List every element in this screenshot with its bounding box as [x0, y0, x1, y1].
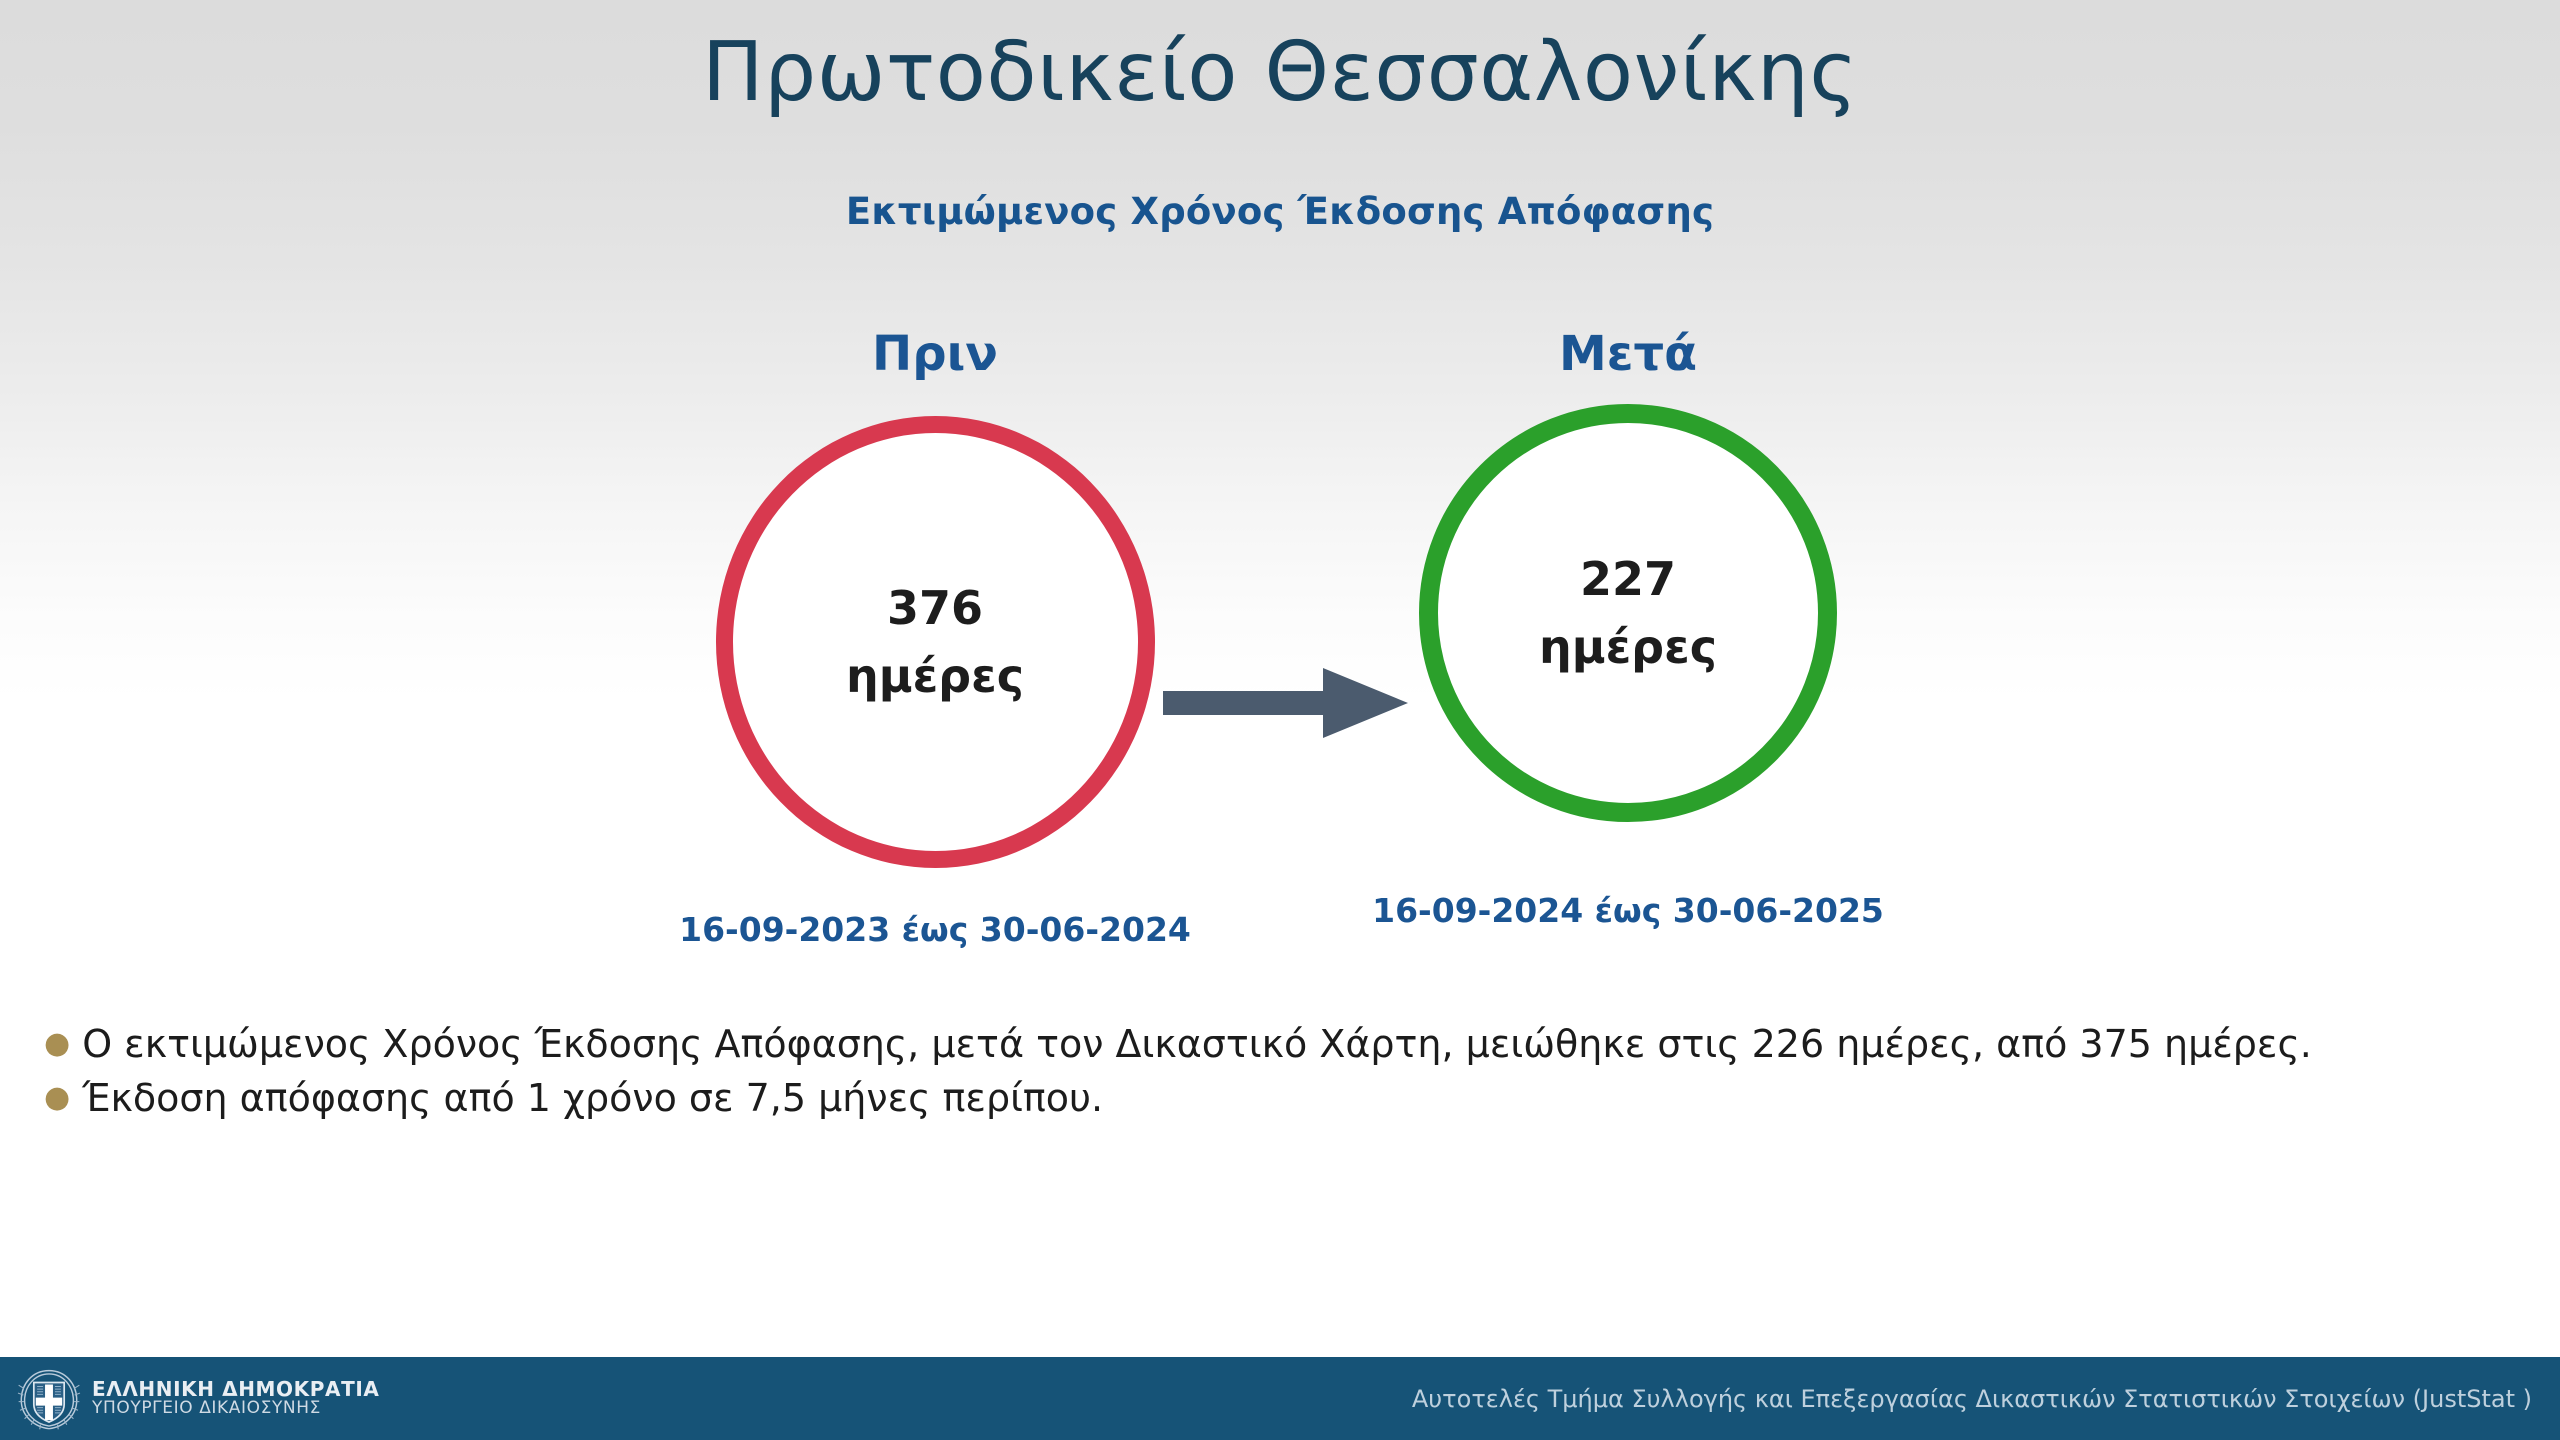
bullet-dot-icon: ●: [44, 1072, 70, 1124]
list-item: ● Ο εκτιμώμενος Χρόνος Έκδοσης Απόφασης,…: [44, 1018, 2500, 1072]
greek-coat-of-arms-icon: [16, 1366, 82, 1432]
after-date-range: 16-09-2024 έως 30-06-2025: [1368, 894, 1888, 927]
after-value: 227: [1580, 556, 1676, 602]
comparison-section: Πριν 376 ημέρες 16-09-2023 έως 30-06-202…: [0, 330, 2560, 950]
page-title: Πρωτοδικείο Θεσσαλονίκης: [0, 30, 2560, 117]
before-date-range: 16-09-2023 έως 30-06-2024: [675, 913, 1195, 946]
before-unit: ημέρες: [846, 653, 1024, 699]
list-item: ● Έκδοση απόφασης από 1 χρόνο σε 7,5 μήν…: [44, 1072, 2500, 1126]
after-unit: ημέρες: [1539, 624, 1717, 670]
footer-brand-line1: ΕΛΛΗΝΙΚΗ ΔΗΜΟΚΡΑΤΙΑ: [92, 1379, 379, 1400]
footer-bar: ΕΛΛΗΝΙΚΗ ΔΗΜΟΚΡΑΤΙΑ ΥΠΟΥΡΓΕΙΟ ΔΙΚΑΙΟΣΥΝΗ…: [0, 1357, 2560, 1440]
after-metric-circle: 227 ημέρες: [1419, 404, 1837, 822]
before-column: Πριν 376 ημέρες 16-09-2023 έως 30-06-202…: [675, 330, 1195, 946]
after-label: Μετά: [1368, 330, 1888, 378]
page-subtitle: Εκτιμώμενος Χρόνος Έκδοσης Απόφασης: [0, 190, 2560, 233]
footer-brand-line2: ΥΠΟΥΡΓΕΙΟ ΔΙΚΑΙΟΣΥΝΗΣ: [92, 1400, 379, 1418]
footer-note: Αυτοτελές Τμήμα Συλλογής και Επεξεργασία…: [1412, 1385, 2532, 1413]
slide: Πρωτοδικείο Θεσσαλονίκης Εκτιμώμενος Χρό…: [0, 0, 2560, 1440]
footer-brand: ΕΛΛΗΝΙΚΗ ΔΗΜΟΚΡΑΤΙΑ ΥΠΟΥΡΓΕΙΟ ΔΙΚΑΙΟΣΥΝΗ…: [16, 1366, 379, 1432]
right-arrow-icon: [1163, 660, 1408, 746]
before-label: Πριν: [675, 330, 1195, 378]
before-metric-circle: 376 ημέρες: [716, 416, 1155, 868]
before-value: 376: [887, 585, 983, 631]
after-column: Μετά 227 ημέρες 16-09-2024 έως 30-06-202…: [1368, 330, 1888, 927]
bullet-list: ● Ο εκτιμώμενος Χρόνος Έκδοσης Απόφασης,…: [44, 1018, 2500, 1126]
bullet-text: Έκδοση απόφασης από 1 χρόνο σε 7,5 μήνες…: [82, 1072, 1103, 1126]
bullet-text: Ο εκτιμώμενος Χρόνος Έκδοσης Απόφασης, μ…: [82, 1018, 2312, 1072]
footer-brand-text: ΕΛΛΗΝΙΚΗ ΔΗΜΟΚΡΑΤΙΑ ΥΠΟΥΡΓΕΙΟ ΔΙΚΑΙΟΣΥΝΗ…: [92, 1379, 379, 1418]
bullet-dot-icon: ●: [44, 1018, 70, 1070]
